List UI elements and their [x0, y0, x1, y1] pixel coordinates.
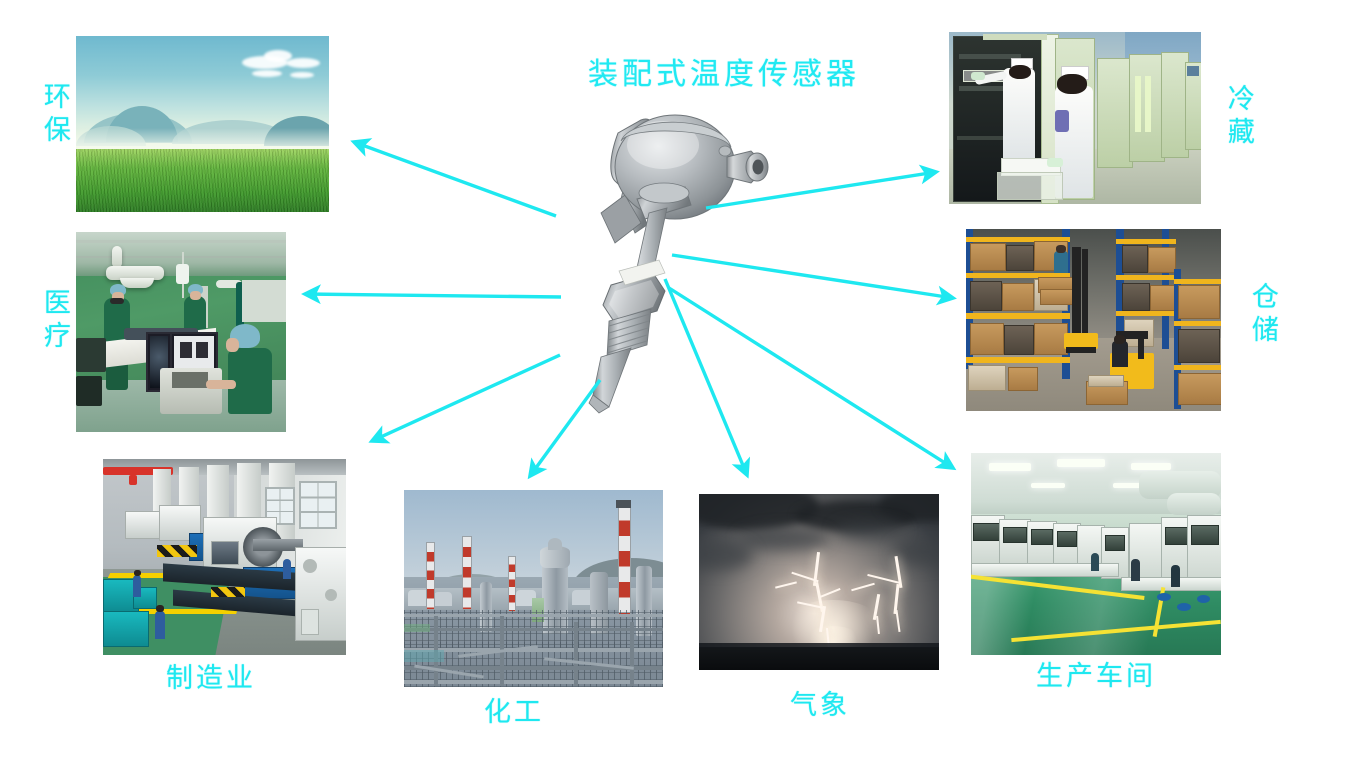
- photo-warehouse: [966, 229, 1221, 411]
- photo-chemical: [404, 490, 663, 687]
- label-workshop: 生产车间: [1036, 661, 1156, 693]
- center-product-sensor: [575, 95, 785, 415]
- thermocouple-probe-icon: [575, 95, 785, 415]
- photo-cold-storage: [949, 32, 1201, 204]
- label-manufacturing: 制造业: [166, 663, 256, 695]
- photo-environment: [76, 36, 329, 212]
- page-title: 装配式温度传感器: [588, 49, 860, 93]
- photo-workshop: [971, 453, 1221, 655]
- label-medical: 医疗: [38, 288, 70, 354]
- label-environment: 环保: [38, 82, 70, 148]
- photo-medical: [76, 232, 286, 432]
- label-weather: 气象: [790, 690, 850, 722]
- arrow-to-medical: [305, 294, 561, 297]
- label-cold-storage: 冷藏: [1222, 84, 1254, 150]
- photo-weather: [699, 494, 939, 670]
- diagram-canvas: 装配式温度传感器: [0, 0, 1366, 768]
- arrow-to-environment: [354, 142, 556, 216]
- photo-manufacturing: [103, 459, 346, 655]
- label-storage: 仓储: [1246, 282, 1278, 348]
- arrow-to-manufacturing: [372, 355, 560, 441]
- label-chemical: 化工: [484, 697, 544, 729]
